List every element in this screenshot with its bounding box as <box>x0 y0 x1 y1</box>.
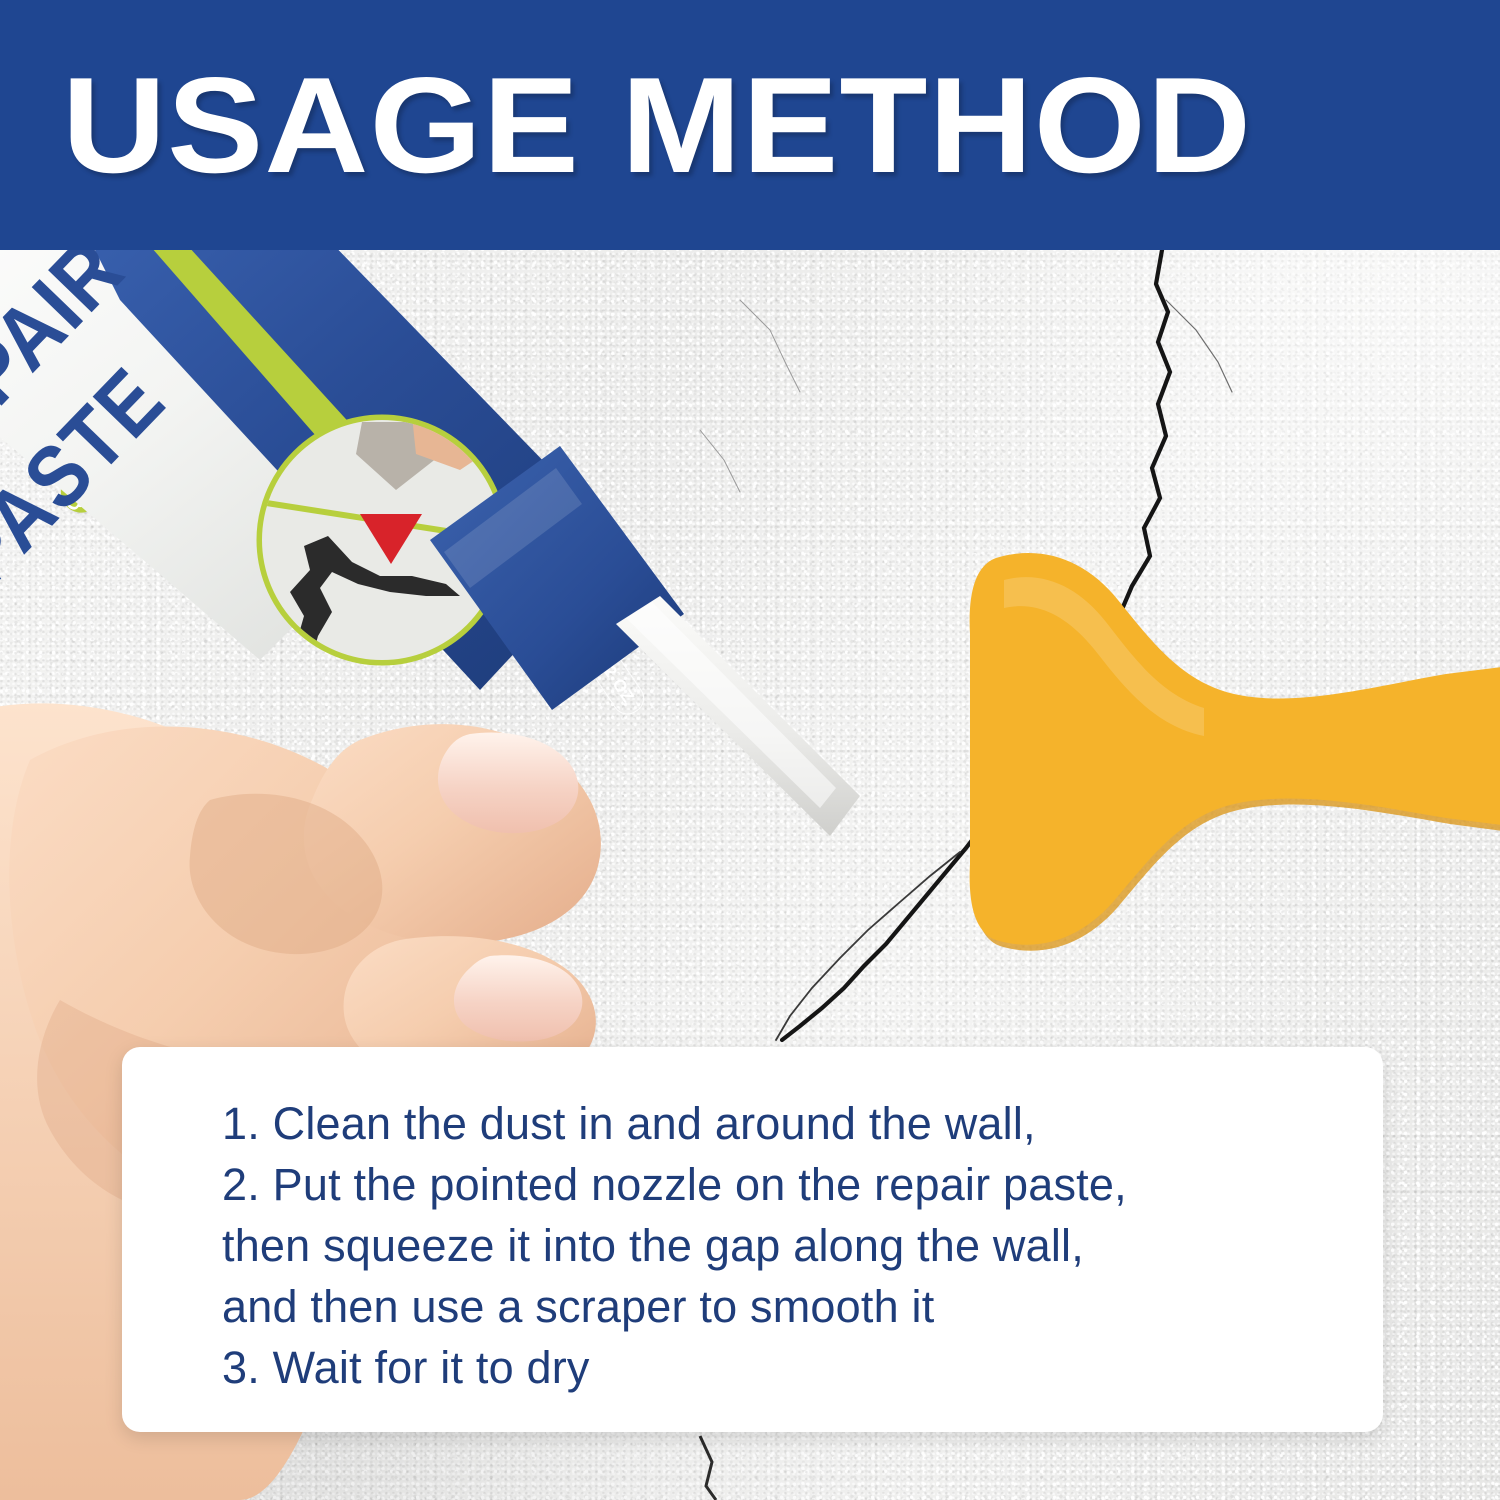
putty-scraper <box>950 540 1500 1000</box>
wall-crack-branch-1 <box>776 852 960 1040</box>
tube-nozzle-highlight <box>626 602 836 808</box>
instructions-card: 1. Clean the dust in and around the wall… <box>122 1047 1383 1432</box>
wall-crack-branch-2 <box>1166 300 1232 392</box>
instruction-line-1: 1. Clean the dust in and around the wall… <box>222 1093 1342 1154</box>
instruction-line-4: and then use a scraper to smooth it <box>222 1276 1342 1337</box>
product-usage-infographic: REPAIR PASTE QUICK REPAIR OF BROKEN WALL… <box>0 0 1500 1500</box>
instructions-text: 1. Clean the dust in and around the wall… <box>222 1093 1342 1398</box>
instruction-line-2: 2. Put the pointed nozzle on the repair … <box>222 1154 1342 1215</box>
header-banner: USAGE METHOD <box>0 0 1500 250</box>
instruction-line-5: 3. Wait for it to dry <box>222 1337 1342 1398</box>
page-title: USAGE METHOD <box>62 50 1500 200</box>
instruction-line-3: then squeeze it into the gap along the w… <box>222 1215 1342 1276</box>
repair-paste-tube: REPAIR PASTE <box>0 240 860 860</box>
